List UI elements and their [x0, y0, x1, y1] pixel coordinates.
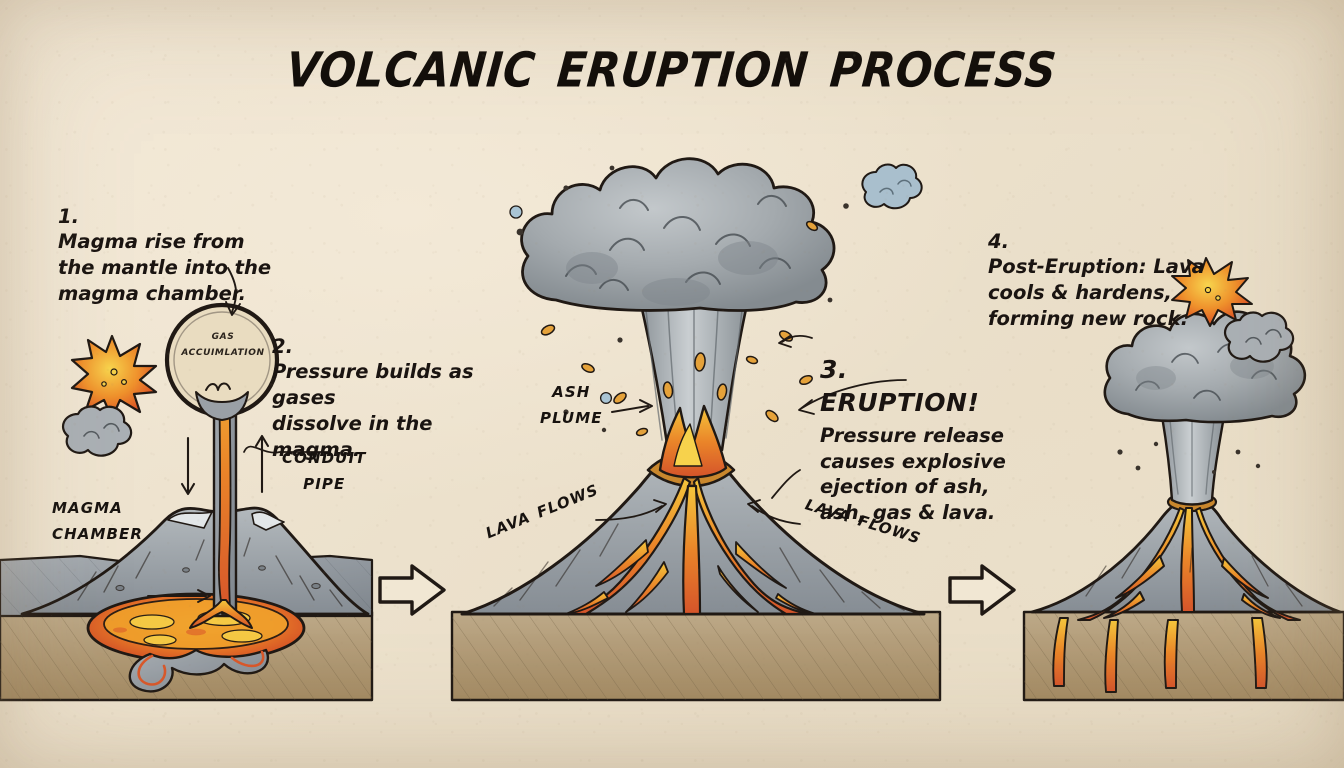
step-3-heading: ERUPTION! [820, 388, 979, 417]
step-4-number: 4. [988, 230, 1009, 253]
smoke-puff-left [63, 407, 131, 456]
label-conduit-pipe: Conduit Pipe [282, 444, 366, 495]
explosion-burst-left [72, 336, 156, 418]
smoke-puff-top [862, 165, 921, 209]
panel-3-artwork [1024, 312, 1344, 700]
arrow-stage-1-to-2 [380, 566, 444, 614]
step-3-caption: 3. ERUPTION! Pressure release causes exp… [820, 320, 1020, 526]
volcano-illustrations [0, 0, 1344, 768]
step-3-heading-line: 3. ERUPTION! [820, 320, 1020, 419]
step-3-number: 3. [820, 355, 848, 384]
step-1-text: Magma rise from the mantle into the magm… [58, 230, 271, 304]
label-ash-plume: Ash Plume [540, 378, 603, 429]
step-1-number: 1. [58, 205, 79, 228]
step-2-caption: 2. Pressure builds as gases dissolve in … [272, 308, 534, 462]
infographic-poster: Volcanic Eruption Process 1. Magma rise … [0, 0, 1344, 768]
label-gas-accumulation: Gas Accuimlation [168, 328, 278, 360]
label-magma-chamber: Magma Chamber [52, 494, 143, 545]
arrow-stage-2-to-3 [950, 566, 1014, 614]
step-4-text: Post-Eruption: Lava cools & hardens, for… [988, 255, 1205, 329]
page-title: Volcanic Eruption Process [0, 22, 1344, 104]
step-1-caption: 1. Magma rise from the mantle into the m… [58, 178, 298, 307]
step-4-caption: 4. Post-Eruption: Lava cools & hardens, … [988, 203, 1214, 332]
